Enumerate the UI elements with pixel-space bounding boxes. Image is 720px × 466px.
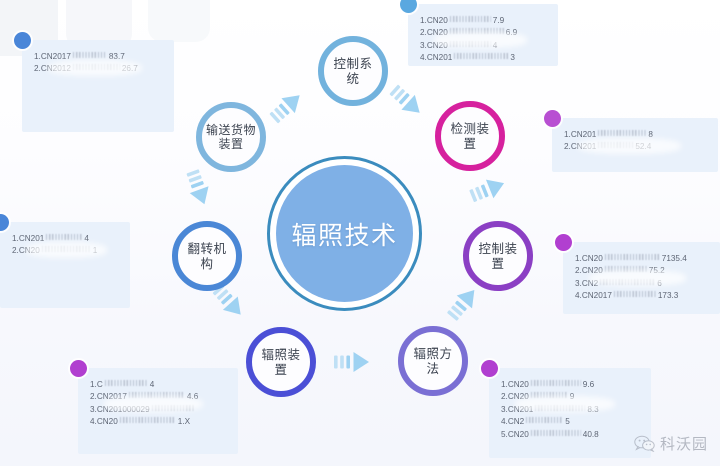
node-label: 控制装置 bbox=[474, 241, 522, 271]
arrow-stripe bbox=[469, 189, 477, 202]
redacted-segment bbox=[450, 28, 504, 34]
patent-number-list: 1.CN201783.72.CN201226.7 bbox=[34, 51, 166, 76]
watermark-label: 科沃园 bbox=[660, 433, 708, 454]
patent-number-item: 4.CN25 bbox=[501, 416, 643, 428]
arrow-stripe bbox=[188, 175, 201, 183]
arrow-head bbox=[486, 174, 508, 198]
redacted-segment bbox=[46, 234, 82, 240]
node-flip-mechanism[interactable]: 翻转机构 bbox=[172, 221, 242, 291]
card-marker-dot bbox=[481, 360, 498, 377]
patent-number-list: 1.CN209.62.CN2093.CN2018.34.CN255.CN2040… bbox=[501, 379, 643, 441]
redacted-segment bbox=[531, 380, 581, 386]
flow-arrow bbox=[183, 168, 214, 208]
redacted-segment bbox=[614, 291, 656, 297]
patent-number-item: 2.CN2075.2 bbox=[575, 265, 712, 277]
arrow-stripe bbox=[346, 356, 350, 369]
arrow-stripe bbox=[334, 356, 338, 369]
flow-arrow bbox=[444, 284, 482, 324]
node-control-system[interactable]: 控制系统 bbox=[318, 36, 388, 106]
node-detection-device[interactable]: 检测装置 bbox=[435, 101, 505, 171]
redacted-segment bbox=[598, 130, 646, 136]
arrow-head bbox=[190, 186, 214, 207]
redacted-segment bbox=[120, 417, 176, 423]
patent-number-item: 3.CN26 bbox=[575, 278, 712, 290]
patent-card: 1.CN20142.CN201 bbox=[0, 222, 130, 308]
redacted-segment bbox=[454, 53, 508, 59]
redacted-segment bbox=[450, 41, 491, 47]
arrow-head bbox=[401, 95, 426, 120]
patent-number-item: 4.CN2017173.3 bbox=[575, 290, 712, 302]
arrow-stripe bbox=[186, 169, 199, 177]
node-label: 辐照装置 bbox=[257, 347, 305, 377]
arrow-stripe bbox=[455, 300, 467, 311]
patent-number-item: 2.CN201 bbox=[12, 245, 122, 257]
patent-number-item: 3.CN201000029 bbox=[90, 404, 230, 416]
background-square-decoration bbox=[148, 0, 210, 42]
node-label: 检测装置 bbox=[446, 121, 494, 151]
center-node-label: 辐照技术 bbox=[291, 216, 397, 252]
redacted-segment bbox=[105, 380, 148, 386]
patent-number-item: 2.CN209 bbox=[501, 391, 643, 403]
card-marker-dot bbox=[14, 32, 31, 49]
patent-card: 1.CN209.62.CN2093.CN2018.34.CN255.CN2040… bbox=[489, 368, 651, 458]
arrow-head bbox=[281, 88, 306, 113]
patent-number-item: 1.CN2018 bbox=[564, 129, 710, 141]
arrow-head bbox=[457, 284, 482, 309]
patent-number-item: 1.CN207.9 bbox=[420, 15, 550, 27]
redacted-segment bbox=[605, 266, 647, 272]
node-label: 控制系统 bbox=[329, 56, 377, 86]
diagram-canvas: 1.CN201783.72.CN201226.71.CN207.92.CN206… bbox=[0, 0, 720, 466]
patent-number-item: 2.CN201226.7 bbox=[34, 63, 166, 75]
arrow-stripe bbox=[221, 294, 233, 305]
arrow-stripe bbox=[475, 187, 483, 200]
patent-number-item: 3.CN204 bbox=[420, 40, 550, 52]
redacted-segment bbox=[73, 52, 107, 58]
patent-number-item: 1.CN2014 bbox=[12, 233, 122, 245]
arrow-head bbox=[223, 296, 248, 321]
arrow-stripe bbox=[451, 305, 463, 316]
node-irradiation-device[interactable]: 辐照装置 bbox=[246, 327, 316, 397]
patent-number-item: 4.CN2013 bbox=[420, 52, 550, 64]
watermark: 科沃园 bbox=[634, 433, 708, 454]
flow-arrow bbox=[387, 82, 426, 120]
redacted-segment bbox=[73, 64, 120, 70]
arrow-stripe bbox=[191, 181, 204, 189]
node-label: 输送货物装置 bbox=[205, 123, 257, 152]
patent-number-item: 2.CN206.9 bbox=[420, 27, 550, 39]
center-node-irradiation-technology[interactable]: 辐照技术 bbox=[267, 156, 422, 311]
flow-arrow bbox=[334, 352, 369, 372]
arrow-stripe bbox=[389, 84, 400, 96]
patent-number-list: 1.CN207135.42.CN2075.23.CN264.CN2017173.… bbox=[575, 253, 712, 303]
patent-card: 1.CN201783.72.CN201226.7 bbox=[22, 40, 174, 132]
card-marker-dot bbox=[0, 214, 9, 231]
node-irradiation-method[interactable]: 辐照方法 bbox=[398, 326, 468, 396]
card-marker-dot bbox=[555, 234, 572, 251]
patent-number-item: 1.CN201783.7 bbox=[34, 51, 166, 63]
redacted-segment bbox=[129, 392, 185, 398]
patent-number-item: 5.CN2040.8 bbox=[501, 429, 643, 441]
redacted-segment bbox=[598, 142, 633, 148]
redacted-segment bbox=[531, 430, 581, 436]
patent-number-list: 1.CN207.92.CN206.93.CN2044.CN2013 bbox=[420, 15, 550, 65]
patent-number-item: 4.CN201.X bbox=[90, 416, 230, 428]
patent-number-item: 2.CN20152.4 bbox=[564, 141, 710, 153]
arrow-stripe bbox=[399, 93, 410, 105]
patent-card: 1.CN207135.42.CN2075.23.CN264.CN2017173.… bbox=[563, 242, 720, 314]
patent-number-item: 1.CN209.6 bbox=[501, 379, 643, 391]
node-control-device[interactable]: 控制装置 bbox=[463, 221, 533, 291]
patent-card: 1.CN20182.CN20152.4 bbox=[552, 118, 718, 172]
node-label: 辐照方法 bbox=[409, 346, 457, 376]
redacted-segment bbox=[42, 246, 91, 252]
redacted-segment bbox=[526, 417, 563, 423]
card-marker-dot bbox=[544, 110, 561, 127]
patent-card: 1.CN207.92.CN206.93.CN2044.CN2013 bbox=[408, 4, 558, 66]
arrow-stripe bbox=[394, 89, 405, 101]
patent-number-item: 1.C4 bbox=[90, 379, 230, 391]
flow-arrow bbox=[267, 88, 306, 126]
card-marker-dot bbox=[400, 0, 417, 13]
arrow-stripe bbox=[217, 289, 229, 300]
arrow-stripe bbox=[340, 356, 344, 369]
redacted-segment bbox=[450, 16, 491, 22]
node-label: 翻转机构 bbox=[183, 241, 231, 271]
redacted-segment bbox=[535, 405, 585, 411]
patent-card: 1.C42.CN20174.63.CN2010000294.CN201.X bbox=[78, 368, 238, 454]
redacted-segment bbox=[531, 392, 568, 398]
patent-number-item: 2.CN20174.6 bbox=[90, 391, 230, 403]
patent-number-item: 3.CN2018.3 bbox=[501, 404, 643, 416]
wechat-icon bbox=[634, 435, 655, 452]
center-node-fill: 辐照技术 bbox=[276, 165, 413, 302]
arrow-head bbox=[354, 352, 370, 372]
patent-number-list: 1.CN20142.CN201 bbox=[12, 233, 122, 258]
arrow-stripe bbox=[274, 107, 285, 119]
arrow-stripe bbox=[447, 310, 459, 321]
arrow-stripe bbox=[481, 184, 489, 197]
arrow-stripe bbox=[269, 111, 280, 123]
redacted-segment bbox=[605, 254, 660, 260]
patent-number-list: 1.C42.CN20174.63.CN2010000294.CN201.X bbox=[90, 379, 230, 429]
arrow-stripe bbox=[279, 103, 290, 115]
redacted-segment bbox=[152, 405, 195, 411]
patent-number-item: 1.CN207135.4 bbox=[575, 253, 712, 265]
flow-arrow bbox=[468, 174, 508, 206]
card-marker-dot bbox=[70, 360, 87, 377]
patent-number-list: 1.CN20182.CN20152.4 bbox=[564, 129, 710, 154]
redacted-segment bbox=[600, 279, 655, 285]
node-conveyor-device[interactable]: 输送货物装置 bbox=[196, 102, 266, 172]
